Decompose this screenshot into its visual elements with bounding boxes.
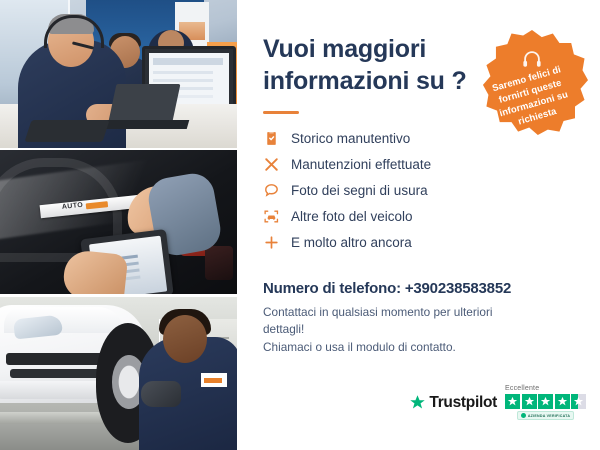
feature-label: Altre foto del veicolo [291,210,413,224]
trustpilot-rating: Eccellente [505,385,586,420]
list-item: Foto dei segni di usura [263,178,578,204]
feature-label: Storico manutentivo [291,132,410,146]
call-center-agents-photo [0,0,237,148]
phone-number: Numero di telefono: +390238583852 [263,280,578,297]
feature-list: Storico manutentivo Manutenzioni effettu… [263,126,578,256]
feature-label: Manutenzioni effettuate [291,158,431,172]
trustpilot-wordmark: Trustpilot [429,394,497,412]
clipboard-check-icon [263,130,280,147]
headset-icon [521,48,543,70]
star-icon [538,394,553,409]
plus-icon [263,234,280,251]
check-icon [521,413,526,418]
trustpilot-logo: Trustpilot [409,394,497,412]
star-rating [505,394,586,409]
star-icon [522,394,537,409]
feature-label: E molto altro ancora [291,236,412,250]
star-icon [555,394,570,409]
information-request-banner: Vuoi maggiori informazioni su ? Storico … [0,0,600,450]
title-divider [263,111,299,114]
contact-subtext-line-1: Contattaci in qualsiasi momento per ulte… [263,305,493,337]
trustpilot-widget[interactable]: Trustpilot Eccellente [409,385,586,420]
content-panel: Vuoi maggiori informazioni su ? Storico … [237,0,600,450]
contact-subtext-line-2: Chiamaci o usa il modulo di contatto. [263,340,456,354]
star-icon [409,394,426,411]
rating-label: Eccellente [505,385,539,392]
list-item: E molto altro ancora [263,230,578,256]
speech-bubble-icon [263,182,280,199]
page-title: Vuoi maggiori informazioni su ? [263,34,478,98]
vehicle-inspection-ruler-photo [0,150,237,294]
star-icon-partial [571,394,586,409]
tools-cross-icon [263,156,280,173]
contact-subtext: Contattaci in qualsiasi momento per ulte… [263,304,518,357]
verified-badge: AZIENDA VERIFICATA [517,411,574,420]
verified-badge-label: AZIENDA VERIFICATA [528,414,570,418]
car-scan-frame-icon [263,208,280,225]
star-icon [505,394,520,409]
starburst-badge: Saremo felici di fornirti queste informa… [476,30,588,142]
tire-inspection-photo [0,297,237,450]
feature-label: Foto dei segni di usura [291,184,428,198]
photo-column [0,0,237,450]
list-item: Altre foto del veicolo [263,204,578,230]
list-item: Manutenzioni effettuate [263,152,578,178]
